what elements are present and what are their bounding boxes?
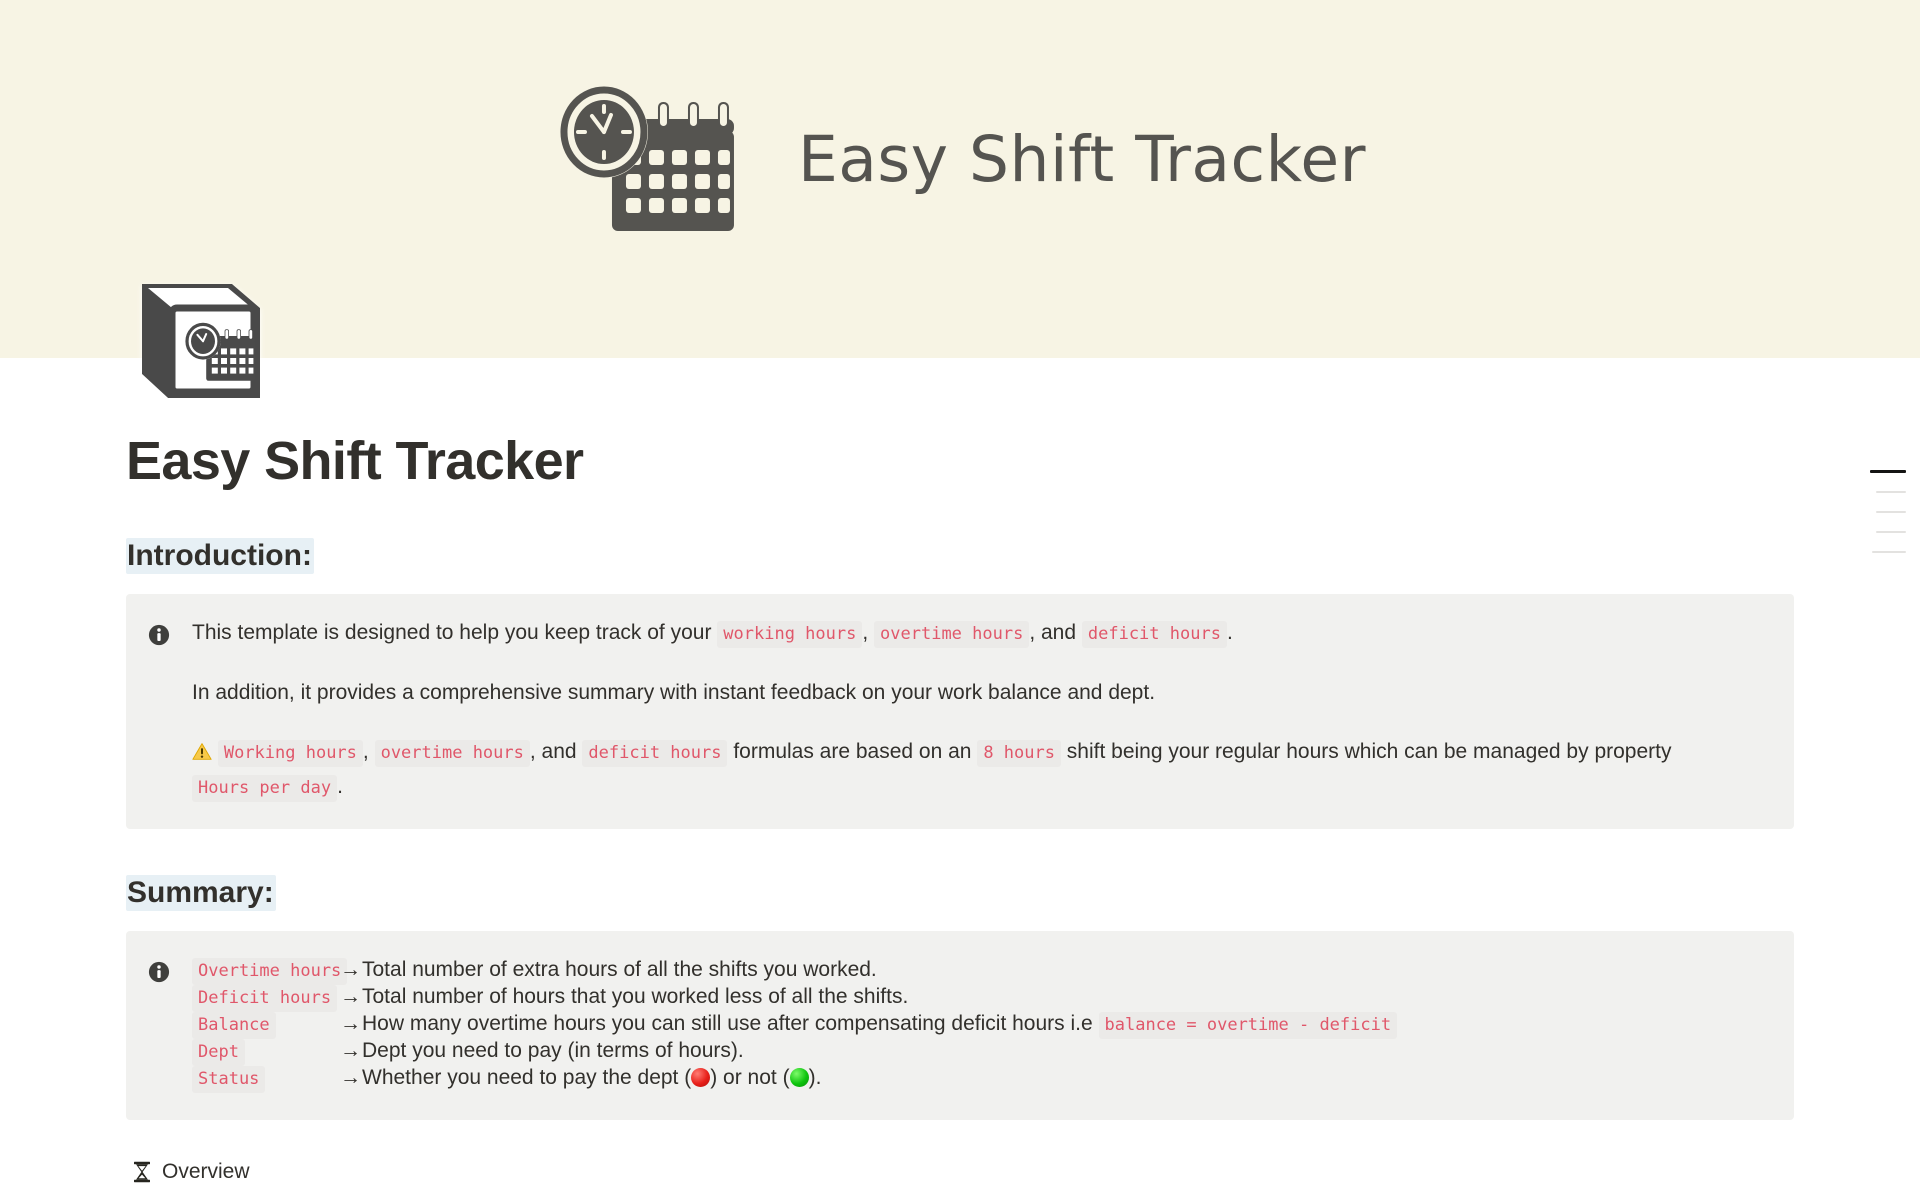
intro-p3-mid: formulas are based on an xyxy=(727,740,977,763)
database-header[interactable]: Overview xyxy=(126,1154,1794,1199)
introduction-heading-text: Introduction: xyxy=(126,538,314,574)
code-overtime-hours-2: overtime hours xyxy=(375,740,530,767)
summary-row: Status → Whether you need to pay the dep… xyxy=(192,1061,1772,1096)
intro-p3-after: . xyxy=(337,775,343,798)
introduction-callout-body: This template is designed to help you ke… xyxy=(192,616,1772,805)
code-working-hours-2: Working hours xyxy=(218,740,363,767)
code-overtime-hours: overtime hours xyxy=(874,621,1029,648)
page-cover-image[interactable]: Easy Shift Tracker xyxy=(0,0,1920,358)
intro-p1-after: . xyxy=(1227,621,1233,644)
page-body: Easy Shift Tracker Introduction: This te… xyxy=(0,358,1920,1199)
table-of-contents-minimap[interactable] xyxy=(1866,470,1906,553)
summary-callout-body: Overtime hours → Total number of extra h… xyxy=(192,953,1772,1096)
toc-line[interactable] xyxy=(1876,531,1906,533)
page-icon-book-clock-calendar[interactable] xyxy=(128,268,274,414)
summary-heading[interactable]: Summary: xyxy=(126,873,276,913)
info-icon xyxy=(148,624,170,646)
summary-heading-text: Summary: xyxy=(126,875,276,911)
code-deficit-hours: deficit hours xyxy=(1082,621,1227,648)
green-circle-emoji xyxy=(790,1068,809,1087)
intro-paragraph-2: In addition, it provides a comprehensive… xyxy=(192,676,1772,710)
intro-p3-sep2: , and xyxy=(530,740,583,763)
intro-p1-sep1: , xyxy=(862,621,874,644)
cover-wordmark: Easy Shift Tracker xyxy=(798,123,1366,196)
code-8-hours: 8 hours xyxy=(977,740,1061,767)
summary-desc-text: How many overtime hours you can still us… xyxy=(362,1012,1099,1035)
intro-paragraph-1: This template is designed to help you ke… xyxy=(192,616,1772,651)
info-icon xyxy=(148,961,170,983)
red-circle-emoji xyxy=(691,1068,710,1087)
toc-line[interactable] xyxy=(1876,491,1906,493)
introduction-heading[interactable]: Introduction: xyxy=(126,536,314,576)
hourglass-icon xyxy=(132,1161,152,1183)
page-title[interactable]: Easy Shift Tracker xyxy=(126,430,1794,492)
code-deficit-hours-2: deficit hours xyxy=(582,740,727,767)
toc-line[interactable] xyxy=(1872,551,1906,553)
clock-calendar-icon xyxy=(554,84,744,234)
summary-heading-wrap: Summary: xyxy=(126,873,1794,913)
summary-key-cell: Status xyxy=(192,1061,340,1096)
summary-desc-after: ). xyxy=(809,1066,822,1089)
summary-callout[interactable]: Overtime hours → Total number of extra h… xyxy=(126,931,1794,1120)
summary-desc-before: Whether you need to pay the dept ( xyxy=(362,1066,691,1089)
intro-paragraph-3: Working hours, overtime hours, and defic… xyxy=(192,735,1772,805)
summary-desc-mid: ) or not ( xyxy=(710,1066,789,1089)
arrow-icon: → xyxy=(340,1061,362,1095)
code-working-hours: working hours xyxy=(717,621,862,648)
cover-artwork: Easy Shift Tracker xyxy=(554,84,1366,234)
introduction-callout[interactable]: This template is designed to help you ke… xyxy=(126,594,1794,829)
intro-p1-sep2: , and xyxy=(1029,621,1082,644)
code-hours-per-day: Hours per day xyxy=(192,775,337,802)
intro-p3-sep1: , xyxy=(363,740,375,763)
database-block-overview[interactable]: Overview Aa Title ∑ Overtime hours ∑ Def… xyxy=(126,1154,1794,1199)
intro-p3-mid2: shift being your regular hours which can… xyxy=(1061,740,1672,763)
introduction-heading-wrap: Introduction: xyxy=(126,536,1794,576)
intro-p1-before: This template is designed to help you ke… xyxy=(192,621,717,644)
toc-line[interactable] xyxy=(1870,470,1906,473)
summary-desc: Whether you need to pay the dept () or n… xyxy=(362,1061,1772,1095)
code-status-key: Status xyxy=(192,1066,265,1093)
warning-emoji xyxy=(192,738,212,757)
database-title[interactable]: Overview xyxy=(162,1160,250,1184)
toc-line[interactable] xyxy=(1876,511,1906,513)
